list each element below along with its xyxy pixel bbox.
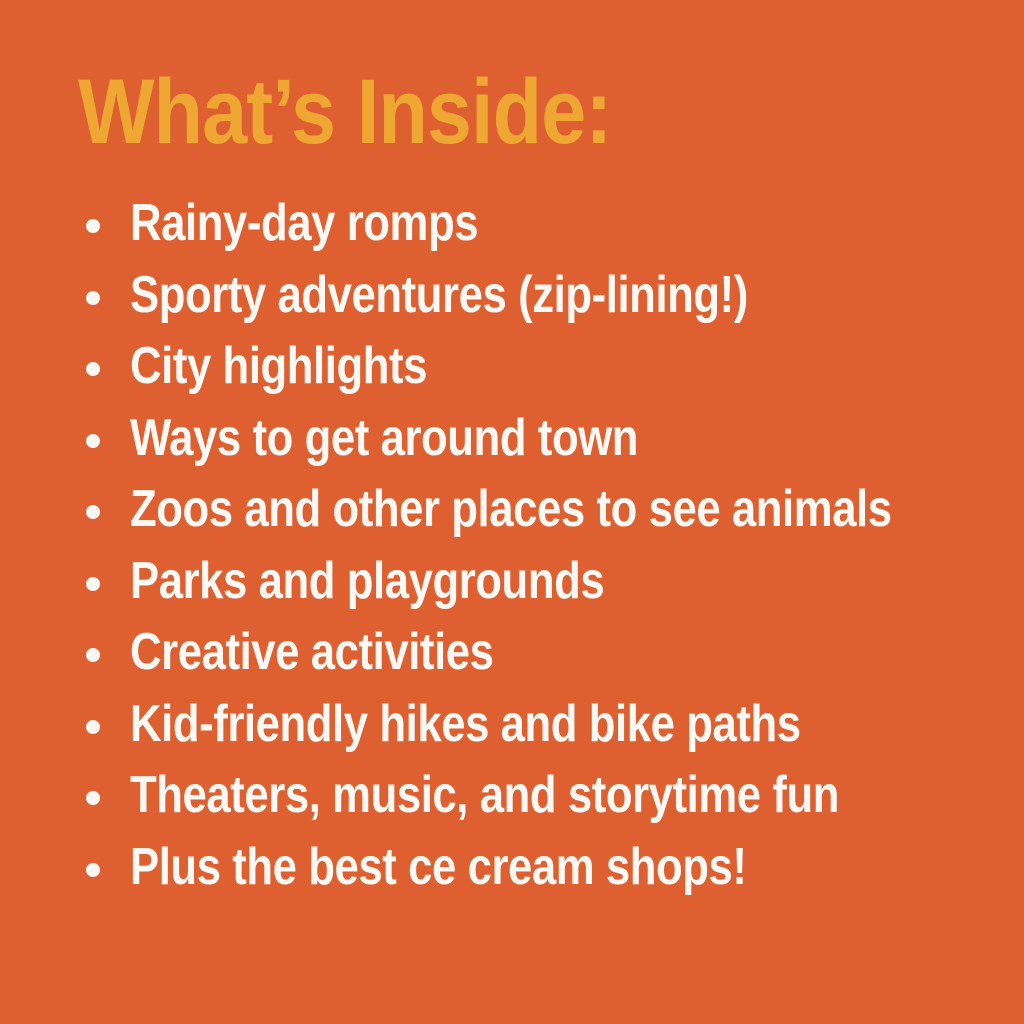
whats-inside-list: Rainy-day romps Sporty adventures (zip-l… — [78, 193, 978, 908]
list-item: Kid-friendly hikes and bike paths — [78, 694, 978, 766]
page-title: What’s Inside: — [78, 62, 835, 162]
list-item: Parks and playgrounds — [78, 551, 978, 623]
list-item-label: Parks and playgrounds — [130, 551, 604, 611]
bullet-dot-icon — [86, 577, 100, 591]
list-item-label: Creative activities — [130, 622, 494, 682]
list-item-label: Rainy-day romps — [130, 193, 478, 253]
list-item: Sporty adventures (zip-lining!) — [78, 265, 978, 337]
list-item: Creative activities — [78, 622, 978, 694]
list-item-label: Kid-friendly hikes and bike paths — [130, 694, 801, 754]
list-item-label: Plus the best ce cream shops! — [130, 837, 747, 897]
bullet-dot-icon — [86, 863, 100, 877]
list-item-label: City highlights — [130, 336, 427, 396]
bullet-dot-icon — [86, 362, 100, 376]
list-item: Theaters, music, and storytime fun — [78, 765, 978, 837]
list-item-label: Sporty adventures (zip-lining!) — [130, 265, 748, 325]
list-item-label: Zoos and other places to see animals — [130, 479, 892, 539]
list-item: Rainy-day romps — [78, 193, 978, 265]
bullet-dot-icon — [86, 791, 100, 805]
bullet-dot-icon — [86, 219, 100, 233]
title-block: What’s Inside: — [78, 62, 938, 170]
whats-inside-poster: What’s Inside: Rainy-day romps Sporty ad… — [0, 0, 1024, 1024]
list-item-label: Theaters, music, and storytime fun — [130, 765, 839, 825]
list-item: Zoos and other places to see animals — [78, 479, 978, 551]
bullet-dot-icon — [86, 505, 100, 519]
bullet-dot-icon — [86, 648, 100, 662]
bullet-dot-icon — [86, 291, 100, 305]
list-item-label: Ways to get around town — [130, 408, 638, 468]
list-item: City highlights — [78, 336, 978, 408]
bullet-dot-icon — [86, 434, 100, 448]
bullet-dot-icon — [86, 720, 100, 734]
list-item: Ways to get around town — [78, 408, 978, 480]
list-item: Plus the best ce cream shops! — [78, 837, 978, 909]
